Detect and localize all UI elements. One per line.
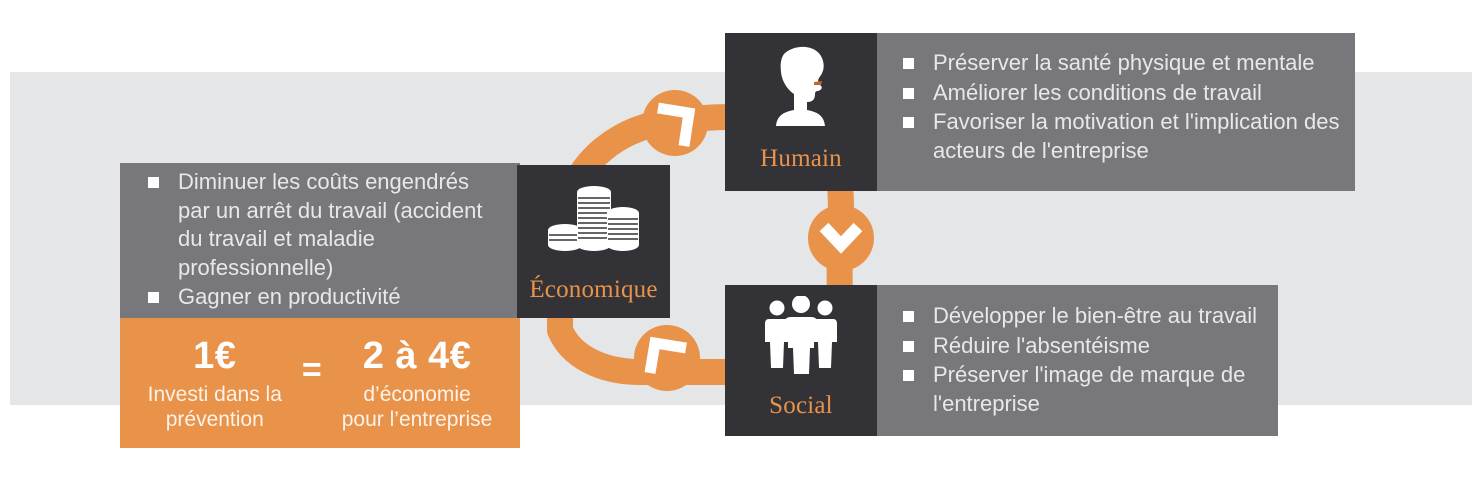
social-card-label: Social bbox=[769, 393, 833, 418]
bullet-square-icon bbox=[903, 88, 914, 99]
ratio-right-caption: d’économie pour l’entreprise bbox=[342, 382, 493, 432]
bullet-square-icon bbox=[148, 177, 159, 188]
list-item: Gagner en productivité bbox=[148, 283, 506, 312]
bullet-square-icon bbox=[903, 117, 914, 128]
bullet-text: Développer le bien-être au travail bbox=[933, 303, 1257, 328]
social-bullets-panel: Développer le bien-être au travail Rédui… bbox=[877, 285, 1278, 436]
ratio-right: 2 à 4€ d’économie pour l’entreprise bbox=[336, 334, 499, 432]
social-card[interactable]: Social bbox=[725, 285, 877, 436]
list-item: Diminuer les coûts engendrés par un arrê… bbox=[148, 168, 506, 282]
ratio-equals-sign: = bbox=[288, 351, 336, 416]
human-card[interactable]: Humain bbox=[725, 33, 877, 191]
bullet-text: Préserver l'image de marque de l'entrepr… bbox=[933, 362, 1245, 416]
social-bullet-list: Développer le bien-être au travail Rédui… bbox=[877, 285, 1278, 418]
human-bullets-panel: Préserver la santé physique et mentale A… bbox=[877, 33, 1355, 191]
bullet-text: Diminuer les coûts engendrés par un arrê… bbox=[178, 169, 483, 280]
economic-card[interactable]: Économique bbox=[517, 165, 670, 318]
list-item: Développer le bien-être au travail bbox=[903, 302, 1266, 331]
bullet-square-icon bbox=[903, 311, 914, 322]
bullet-text: Préserver la santé physique et mentale bbox=[933, 50, 1315, 75]
bullet-square-icon bbox=[903, 341, 914, 352]
economic-ratio-panel: 1€ Investi dans la prévention = 2 à 4€ d… bbox=[120, 318, 520, 448]
group-of-people-icon bbox=[725, 285, 877, 387]
bullet-square-icon bbox=[903, 58, 914, 69]
human-bullet-list: Préserver la santé physique et mentale A… bbox=[877, 33, 1355, 165]
coin-stacks-icon bbox=[517, 165, 670, 271]
ratio-right-value: 2 à 4€ bbox=[342, 334, 493, 378]
infographic-canvas: Diminuer les coûts engendrés par un arrê… bbox=[0, 0, 1482, 482]
head-profile-icon bbox=[725, 33, 877, 142]
list-item: Préserver l'image de marque de l'entrepr… bbox=[903, 361, 1266, 418]
list-item: Améliorer les conditions de travail bbox=[903, 79, 1343, 108]
economic-card-label: Économique bbox=[529, 277, 657, 302]
bullet-square-icon bbox=[148, 292, 159, 303]
economic-bullets-panel: Diminuer les coûts engendrés par un arrê… bbox=[120, 163, 520, 318]
ratio-left-caption: Investi dans la prévention bbox=[148, 382, 282, 432]
list-item: Réduire l'absentéisme bbox=[903, 332, 1266, 361]
bullet-text: Améliorer les conditions de travail bbox=[933, 80, 1262, 105]
bullet-square-icon bbox=[903, 370, 914, 381]
list-item: Préserver la santé physique et mentale bbox=[903, 49, 1343, 78]
list-item: Favoriser la motivation et l'implication… bbox=[903, 108, 1343, 165]
bullet-text: Réduire l'absentéisme bbox=[933, 333, 1150, 358]
economic-bullet-list: Diminuer les coûts engendrés par un arrê… bbox=[120, 168, 520, 313]
bullet-text: Gagner en productivité bbox=[178, 284, 401, 309]
ratio-left: 1€ Investi dans la prévention bbox=[142, 334, 288, 432]
ratio-left-value: 1€ bbox=[148, 334, 282, 378]
bullet-text: Favoriser la motivation et l'implication… bbox=[933, 109, 1339, 163]
human-card-label: Humain bbox=[760, 146, 842, 171]
